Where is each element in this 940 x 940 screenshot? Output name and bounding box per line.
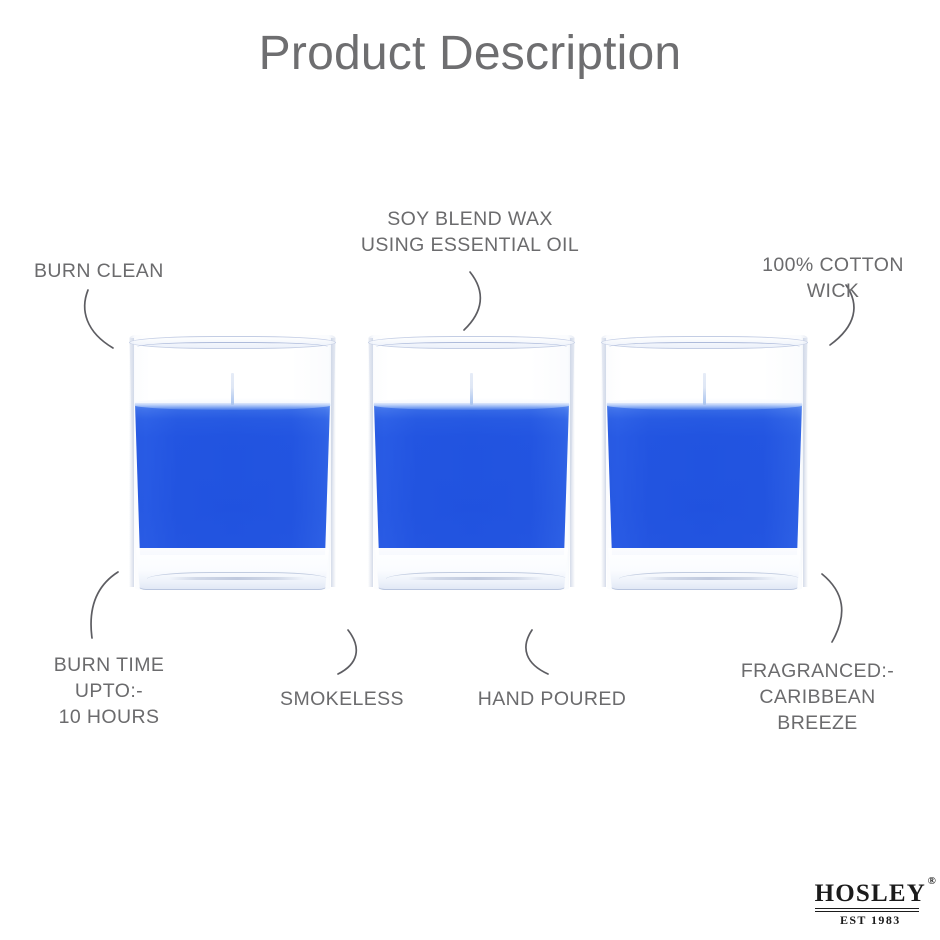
glass-edge-right [331,338,336,587]
blue-wax [134,403,331,555]
brand-established: EST 1983 [815,914,926,926]
leader-burn-clean [85,290,113,348]
base-reflection [408,577,544,580]
glass-base [133,548,332,590]
base-reflection [169,577,305,580]
candle-wick [703,373,706,405]
callout-fragranced: FRAGRANCED:- CARIBBEAN BREEZE [710,658,925,736]
glass-base [372,548,571,590]
candle-jar-center [367,335,576,590]
page-title: Product Description [0,26,940,81]
brand-name: HOSLEY ® [815,881,926,906]
brand-divider [815,908,919,913]
glass-rim-inner [376,342,567,352]
leader-fragranced [822,574,842,642]
callout-cotton-wick: 100% COTTON WICK [733,252,933,304]
registered-trademark-icon: ® [928,876,937,887]
glass-rim-inner [137,342,328,352]
candle-jar-right [600,335,809,590]
candle-wick [470,373,473,405]
brand-name-text: HOSLEY [815,880,926,907]
leader-smokeless [338,630,356,674]
callout-burn-clean: BURN CLEAN [34,258,164,284]
candle-jar-left [128,335,337,590]
product-description-image: Product Description [0,0,940,940]
candle-wick [231,373,234,405]
blue-wax [606,403,803,555]
glass-rim-inner [609,342,800,352]
leader-burn-time [91,572,118,638]
glass-edge-left [368,338,373,587]
glass-edge-left [601,338,606,587]
callout-hand-poured: HAND POURED [452,686,652,712]
callout-smokeless: SMOKELESS [257,686,427,712]
callout-soy-blend-wax: SOY BLEND WAX USING ESSENTIAL OIL [330,206,610,258]
glass-edge-left [129,338,134,587]
base-reflection [641,577,777,580]
blue-wax [373,403,570,555]
callout-burn-time: BURN TIME UPTO:- 10 HOURS [14,652,204,730]
glass-base [605,548,804,590]
leader-hand-poured [526,630,548,674]
glass-edge-right [803,338,808,587]
leader-soy-wax [464,272,480,330]
brand-logo: HOSLEY ® EST 1983 [815,881,926,927]
glass-edge-right [570,338,575,587]
